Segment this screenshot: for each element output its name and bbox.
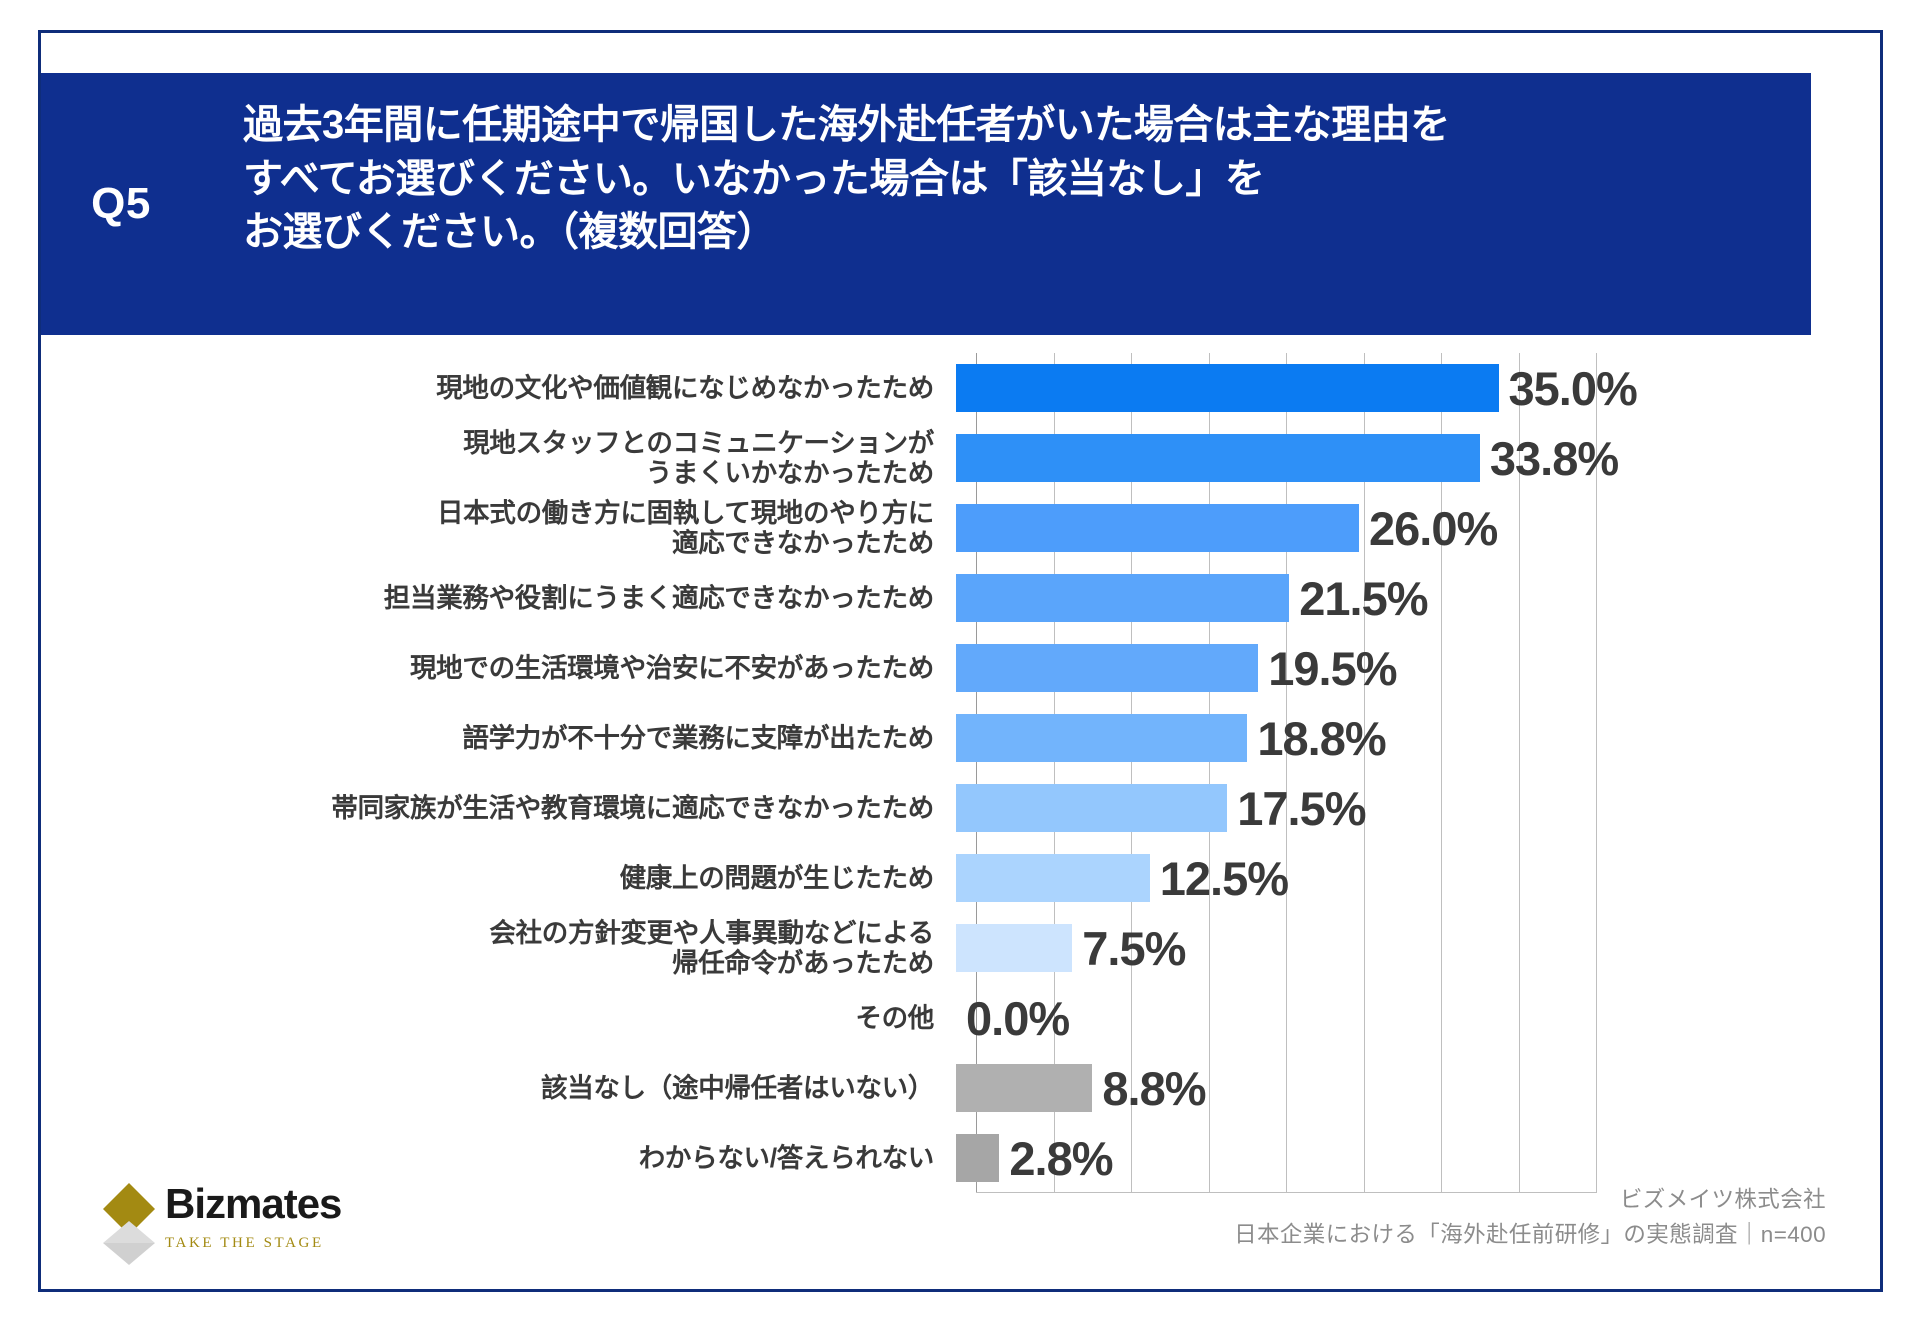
chart-row: 現地の文化や価値観になじめなかったため35.0% bbox=[41, 353, 1886, 423]
bar-value-label: 18.8% bbox=[1257, 711, 1385, 766]
category-label: 日本式の働き方に固執して現地のやり方に 適応できなかったため bbox=[41, 498, 956, 559]
chart-rows: 現地の文化や価値観になじめなかったため35.0%現地スタッフとのコミュニケーショ… bbox=[41, 353, 1886, 1193]
bar-chart: 現地の文化や価値観になじめなかったため35.0%現地スタッフとのコミュニケーショ… bbox=[41, 353, 1886, 1193]
chart-row: 日本式の働き方に固執して現地のやり方に 適応できなかったため26.0% bbox=[41, 493, 1886, 563]
slide: Q5 過去3年間に任期途中で帰国した海外赴任者がいた場合は主な理由を すべてお選… bbox=[0, 0, 1920, 1329]
bar bbox=[956, 714, 1247, 762]
bar-container: 26.0% bbox=[956, 493, 1886, 563]
bar-value-label: 21.5% bbox=[1299, 571, 1427, 626]
bar-container: 7.5% bbox=[956, 913, 1886, 983]
bar bbox=[956, 574, 1289, 622]
category-label: 帯同家族が生活や教育環境に適応できなかったため bbox=[41, 793, 956, 823]
bar-value-label: 35.0% bbox=[1509, 361, 1637, 416]
chart-row: 語学力が不十分で業務に支障が出たため18.8% bbox=[41, 703, 1886, 773]
slide-frame: Q5 過去3年間に任期途中で帰国した海外赴任者がいた場合は主な理由を すべてお選… bbox=[38, 30, 1883, 1292]
bar-value-label: 17.5% bbox=[1237, 781, 1365, 836]
bar-container: 17.5% bbox=[956, 773, 1886, 843]
bar-value-label: 0.0% bbox=[966, 991, 1069, 1046]
bar-container: 19.5% bbox=[956, 633, 1886, 703]
bar bbox=[956, 434, 1480, 482]
bar bbox=[956, 364, 1499, 412]
bar-container: 8.8% bbox=[956, 1053, 1886, 1123]
bar-container: 21.5% bbox=[956, 563, 1886, 633]
question-banner: 過去3年間に任期途中で帰国した海外赴任者がいた場合は主な理由を すべてお選びくだ… bbox=[201, 73, 1811, 335]
bar bbox=[956, 924, 1072, 972]
bizmates-logo: Bizmates TAKE THE STAGE bbox=[103, 1183, 341, 1261]
category-label: 語学力が不十分で業務に支障が出たため bbox=[41, 723, 956, 753]
category-label: 現地の文化や価値観になじめなかったため bbox=[41, 373, 956, 403]
bar bbox=[956, 854, 1150, 902]
bar-container: 33.8% bbox=[956, 423, 1886, 493]
category-label: 健康上の問題が生じたため bbox=[41, 863, 956, 893]
bar-value-label: 12.5% bbox=[1160, 851, 1288, 906]
category-label: 担当業務や役割にうまく適応できなかったため bbox=[41, 583, 956, 613]
brand-tagline: TAKE THE STAGE bbox=[165, 1235, 341, 1252]
question-line-1: 過去3年間に任期途中で帰国した海外赴任者がいた場合は主な理由を bbox=[243, 99, 1781, 153]
bar-value-label: 33.8% bbox=[1490, 431, 1618, 486]
brand-name: Bizmates bbox=[165, 1183, 341, 1225]
category-label: 現地での生活環境や治安に不安があったため bbox=[41, 653, 956, 683]
bar bbox=[956, 784, 1227, 832]
chart-row: 該当なし（途中帰任者はいない）8.8% bbox=[41, 1053, 1886, 1123]
bar-container: 18.8% bbox=[956, 703, 1886, 773]
bar-container: 35.0% bbox=[956, 353, 1886, 423]
chart-row: 現地スタッフとのコミュニケーションが うまくいかなかったため33.8% bbox=[41, 423, 1886, 493]
credit-survey: 日本企業における「海外赴任前研修」の実態調査｜n=400 bbox=[1234, 1218, 1826, 1253]
chart-row: その他0.0% bbox=[41, 983, 1886, 1053]
category-label: 現地スタッフとのコミュニケーションが うまくいかなかったため bbox=[41, 428, 956, 489]
bar bbox=[956, 644, 1258, 692]
bar-container: 0.0% bbox=[956, 983, 1886, 1053]
category-label: 該当なし（途中帰任者はいない） bbox=[41, 1073, 956, 1103]
category-label: 会社の方針変更や人事異動などによる 帰任命令があったため bbox=[41, 918, 956, 979]
chart-row: 会社の方針変更や人事異動などによる 帰任命令があったため7.5% bbox=[41, 913, 1886, 983]
chart-row: 健康上の問題が生じたため12.5% bbox=[41, 843, 1886, 913]
bar-value-label: 19.5% bbox=[1268, 641, 1396, 696]
question-line-2: すべてお選びください。いなかった場合は「該当なし」を bbox=[243, 153, 1781, 207]
chart-row: 帯同家族が生活や教育環境に適応できなかったため17.5% bbox=[41, 773, 1886, 843]
question-number-badge: Q5 bbox=[41, 73, 201, 335]
bar-value-label: 7.5% bbox=[1082, 921, 1185, 976]
bar-container: 12.5% bbox=[956, 843, 1886, 913]
survey-credit: ビズメイツ株式会社 日本企業における「海外赴任前研修」の実態調査｜n=400 bbox=[1234, 1183, 1826, 1253]
chart-row: 担当業務や役割にうまく適応できなかったため21.5% bbox=[41, 563, 1886, 633]
bar bbox=[956, 1064, 1092, 1112]
category-label: その他 bbox=[41, 1003, 956, 1033]
chart-row: 現地での生活環境や治安に不安があったため19.5% bbox=[41, 633, 1886, 703]
question-line-3: お選びください。（複数回答） bbox=[243, 206, 1781, 260]
question-number: Q5 bbox=[91, 179, 151, 229]
credit-company: ビズメイツ株式会社 bbox=[1234, 1183, 1826, 1218]
bar-value-label: 8.8% bbox=[1102, 1061, 1205, 1116]
diamond-logo-icon bbox=[103, 1183, 155, 1261]
bar bbox=[956, 504, 1359, 552]
bar-value-label: 26.0% bbox=[1369, 501, 1497, 556]
slide-footer: Bizmates TAKE THE STAGE ビズメイツ株式会社 日本企業にお… bbox=[41, 1159, 1886, 1289]
